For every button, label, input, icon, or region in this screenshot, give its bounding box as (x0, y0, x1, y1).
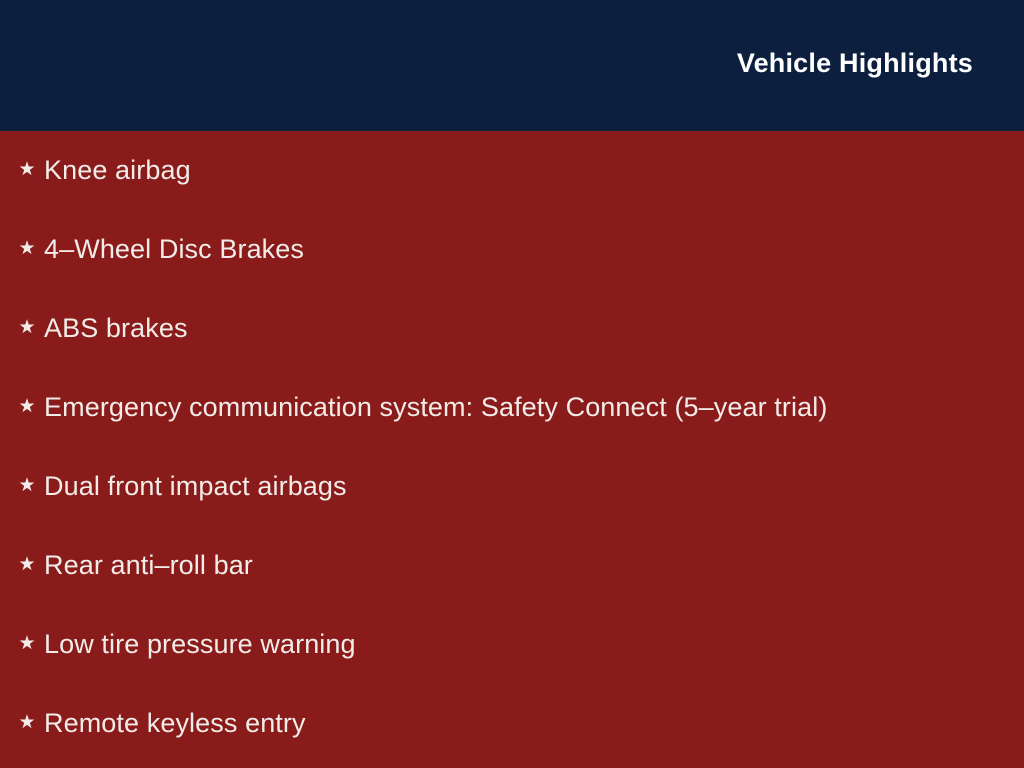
list-item[interactable]: ★ Low tire pressure warning (0, 622, 356, 666)
star-icon: ★ (12, 476, 42, 495)
list-item-label: Emergency communication system: Safety C… (44, 391, 827, 423)
star-icon: ★ (12, 239, 42, 258)
star-icon: ★ (12, 160, 42, 179)
list-item-label: 4–Wheel Disc Brakes (44, 233, 304, 265)
list-item[interactable]: ★ Knee airbag (0, 148, 191, 192)
list-item[interactable]: ★ Remote keyless entry (0, 701, 306, 745)
star-icon: ★ (12, 634, 42, 653)
star-icon: ★ (12, 555, 42, 574)
list-item-label: ABS brakes (44, 312, 188, 344)
page-title: Vehicle Highlights (737, 48, 973, 78)
list-item[interactable]: ★ 4–Wheel Disc Brakes (0, 227, 304, 271)
vehicle-highlights-list: ★ Knee airbag ★ 4–Wheel Disc Brakes ★ AB… (0, 131, 1024, 768)
slide-header-band: Vehicle Highlights (0, 0, 1024, 131)
star-icon: ★ (12, 318, 42, 337)
list-item-label: Rear anti–roll bar (44, 549, 253, 581)
list-item-label: Remote keyless entry (44, 707, 306, 739)
star-icon: ★ (12, 713, 42, 732)
list-item-label: Low tire pressure warning (44, 628, 356, 660)
list-item-label: Knee airbag (44, 154, 191, 186)
list-item[interactable]: ★ ABS brakes (0, 306, 188, 350)
list-item[interactable]: ★ Rear anti–roll bar (0, 543, 253, 587)
slide-canvas: Vehicle Highlights ★ Knee airbag ★ 4–Whe… (0, 0, 1024, 768)
list-item-label: Dual front impact airbags (44, 470, 347, 502)
list-item[interactable]: ★ Dual front impact airbags (0, 464, 347, 508)
star-icon: ★ (12, 397, 42, 416)
list-item[interactable]: ★ Emergency communication system: Safety… (0, 385, 827, 429)
